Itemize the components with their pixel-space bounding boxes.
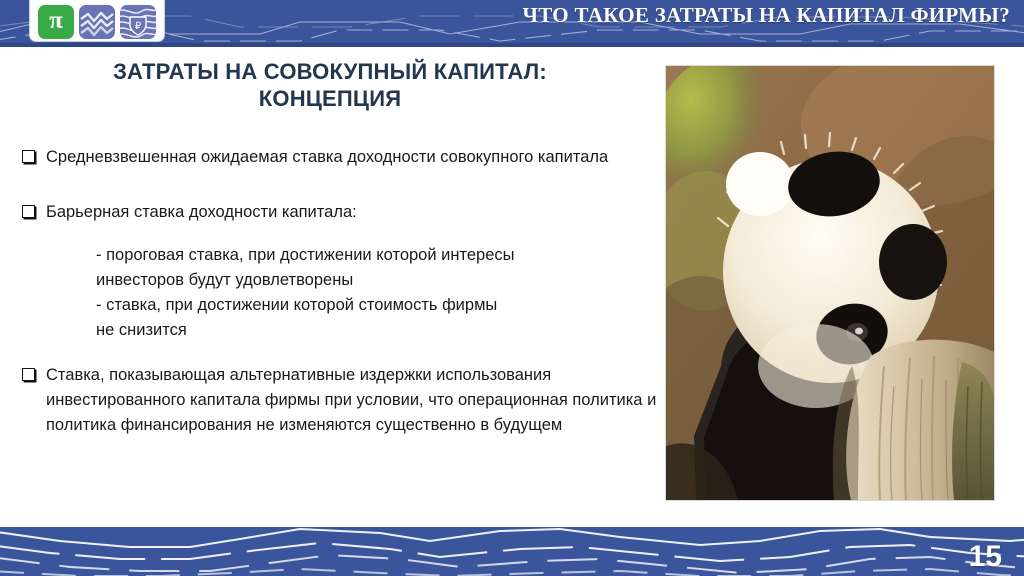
page-title: ЗАТРАТЫ НА СОВОКУПНЫЙ КАПИТАЛ: КОНЦЕПЦИЯ xyxy=(30,58,630,112)
pi-glyph: π xyxy=(49,8,63,33)
sub-list: - пороговая ставка, при достижении котор… xyxy=(96,243,662,343)
square-bullet-icon xyxy=(22,150,35,163)
content-body: Средневзвешенная ожидаемая ставка доходн… xyxy=(22,145,662,456)
square-bullet-icon xyxy=(22,368,35,381)
footer-band: 15 xyxy=(0,527,1024,576)
list-item: Барьерная ставка доходности капитала: xyxy=(22,200,662,225)
wave-chart-icon xyxy=(79,5,115,39)
list-item-text: Ставка, показывающая альтернативные изде… xyxy=(46,363,662,438)
list-item-text: Средневзвешенная ожидаемая ставка доходн… xyxy=(46,145,662,170)
header-title: ЧТО ТАКОЕ ЗАТРАТЫ НА КАПИТАЛ ФИРМЫ? xyxy=(523,3,1010,28)
logo[interactable]: π ₽ xyxy=(30,0,164,41)
list-item: Ставка, показывающая альтернативные изде… xyxy=(22,363,662,438)
list-item: Средневзвешенная ожидаемая ставка доходн… xyxy=(22,145,662,170)
sub-list-item: не снизится xyxy=(96,318,662,343)
ruble-shield-icon: ₽ xyxy=(120,5,156,39)
header-underline xyxy=(0,43,1024,47)
sub-list-item: - пороговая ставка, при достижении котор… xyxy=(96,243,662,268)
page-title-line2: КОНЦЕПЦИЯ xyxy=(30,85,630,112)
footer-zigzag-pattern xyxy=(0,527,1024,576)
pi-symbol-icon: π xyxy=(38,5,74,39)
panda-photo-image xyxy=(666,66,994,500)
sub-list-item: инвесторов будут удовлетворены xyxy=(96,268,662,293)
square-bullet-icon xyxy=(22,205,35,218)
list-item-text: Барьерная ставка доходности капитала: xyxy=(46,200,662,225)
sub-list-item: - ставка, при достижении которой стоимос… xyxy=(96,293,662,318)
svg-text:₽: ₽ xyxy=(135,21,142,32)
page-number: 15 xyxy=(969,542,1002,572)
panda-photo xyxy=(665,65,995,501)
page-title-line1: ЗАТРАТЫ НА СОВОКУПНЫЙ КАПИТАЛ: xyxy=(30,58,630,85)
